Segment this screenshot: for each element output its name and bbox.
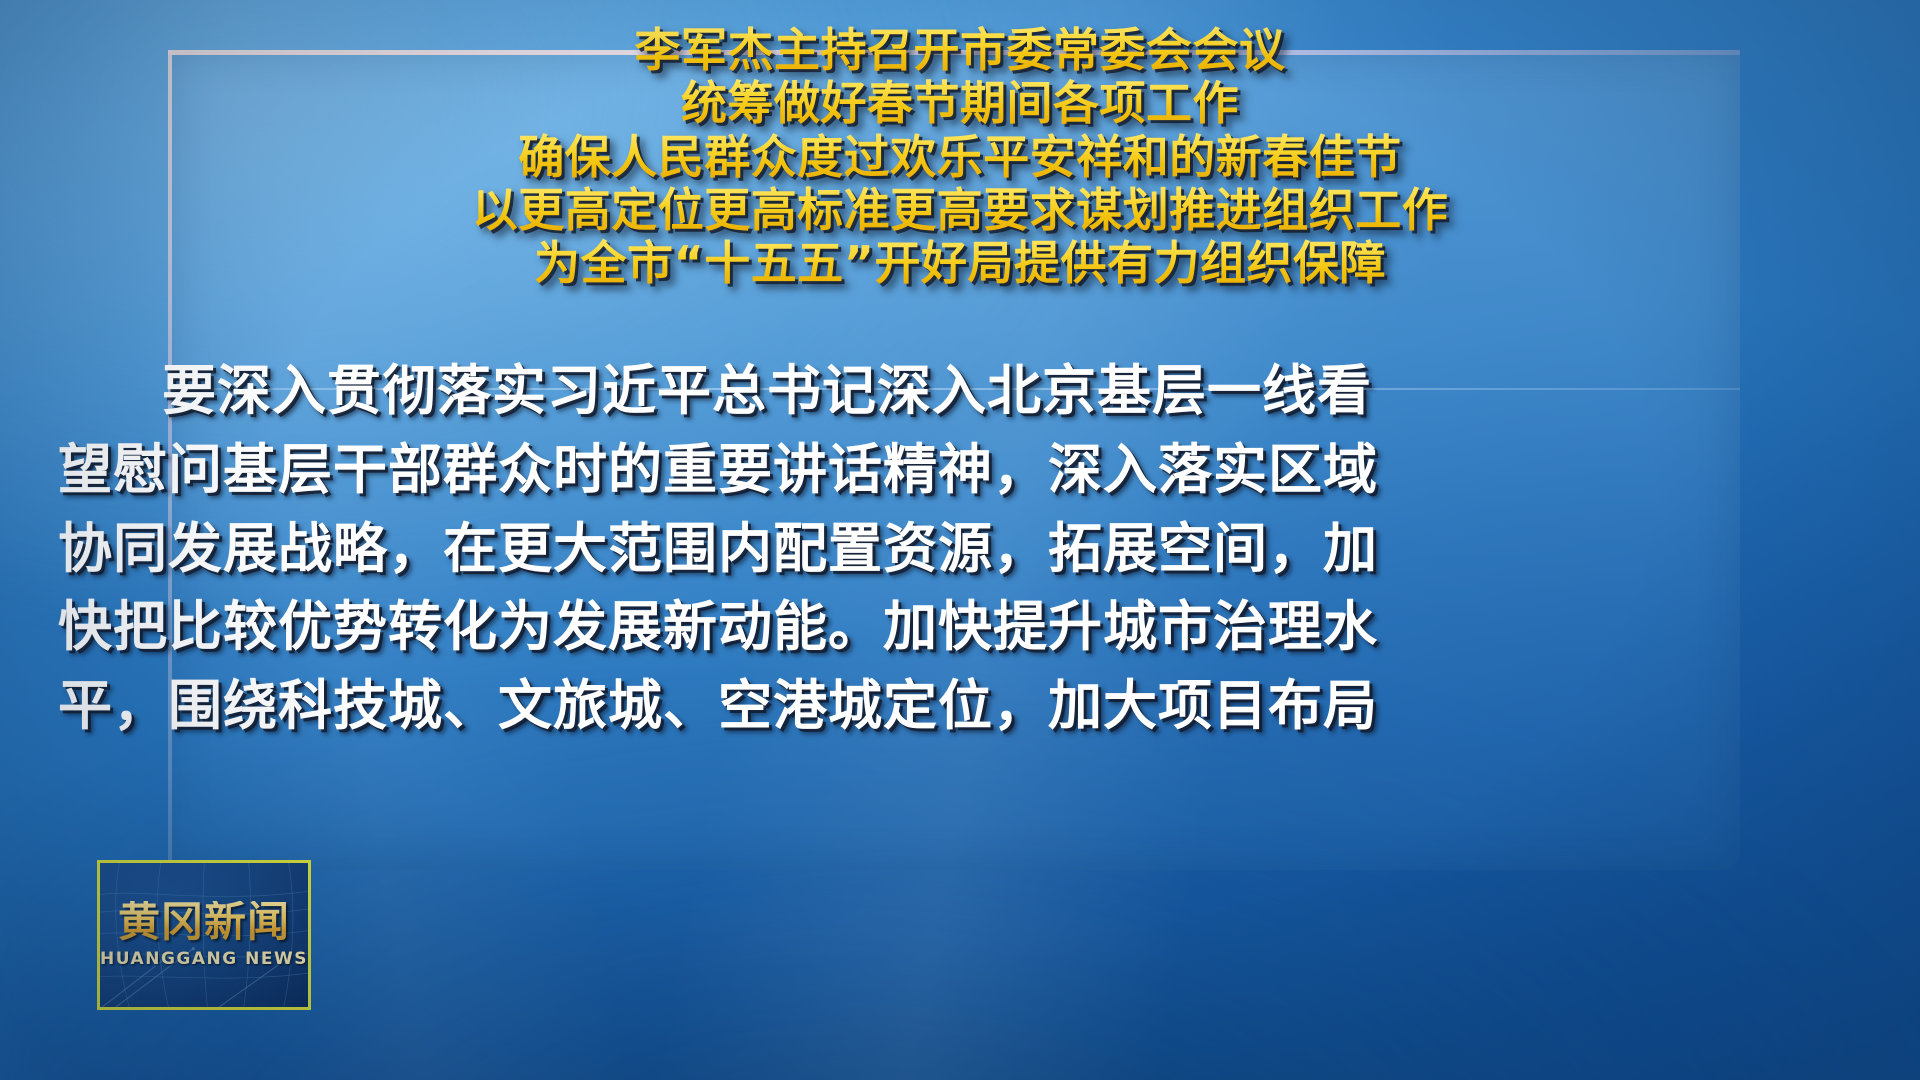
- broadcast-screen: 李军杰主持召开市委常委会会议 统筹做好春节期间各项工作 确保人民群众度过欢乐平安…: [0, 0, 1920, 1080]
- screen-vignette: [0, 0, 1920, 1080]
